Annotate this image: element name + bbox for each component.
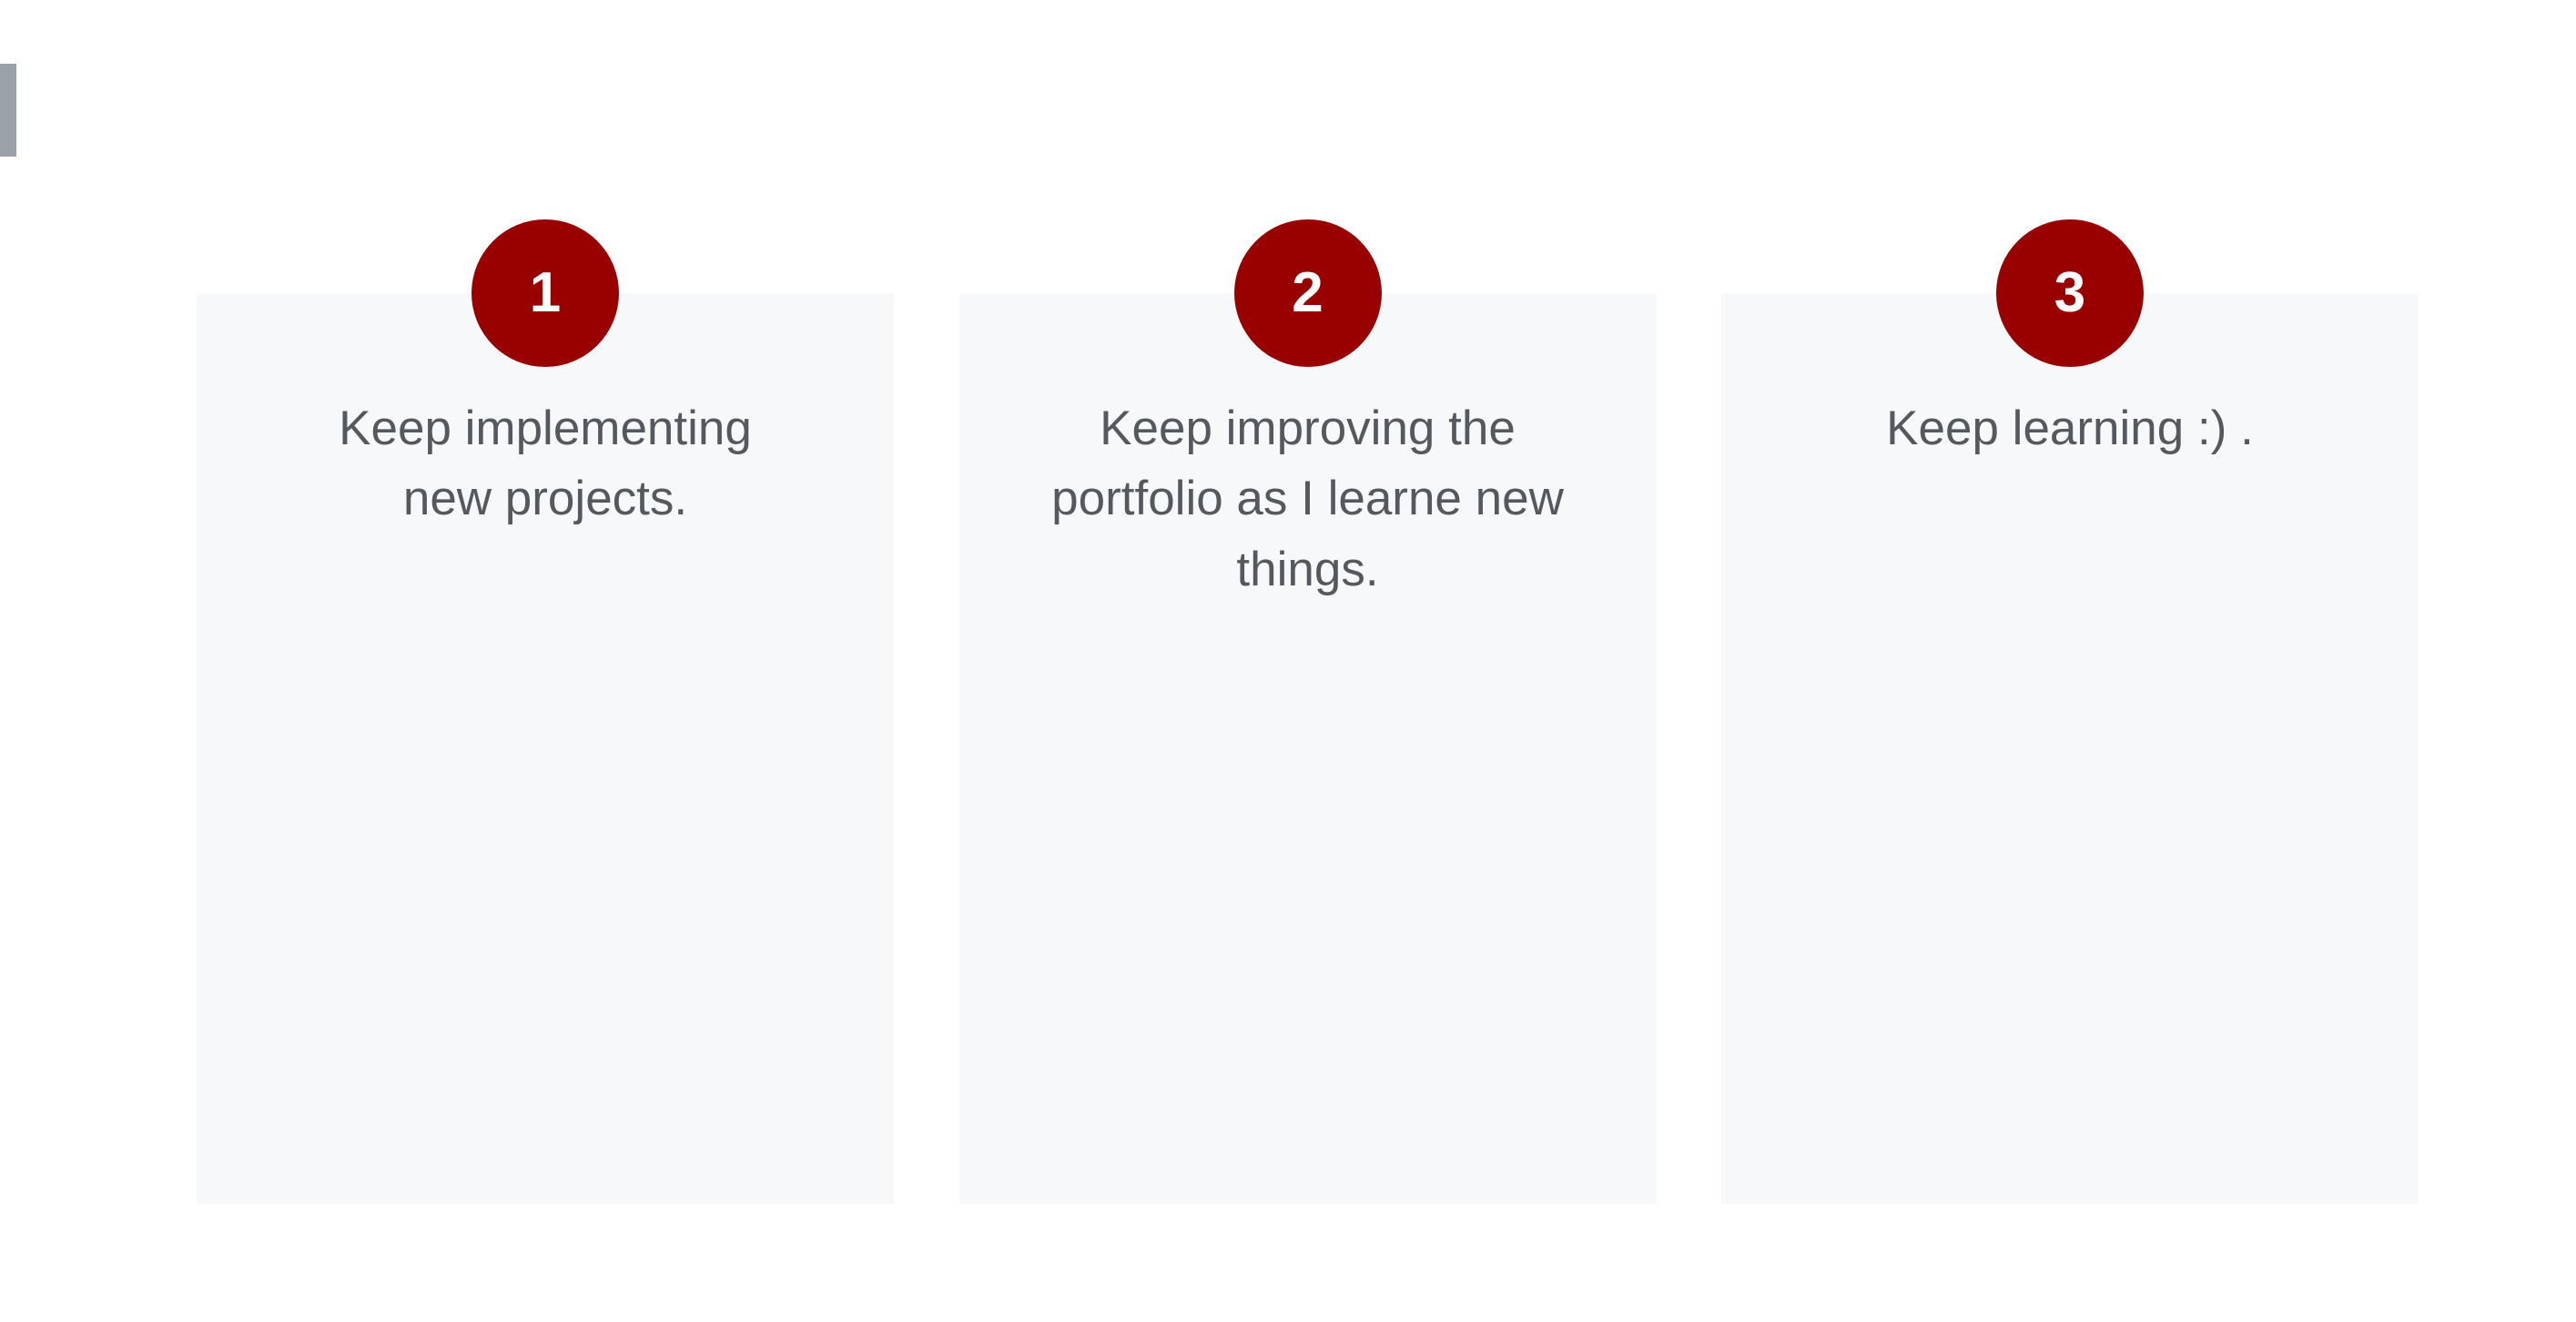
step-card-text-1: Keep implementing new projects.	[318, 393, 773, 534]
vertical-scrollbar-thumb[interactable]	[0, 64, 16, 157]
step-cards-container: 1 Keep implementing new projects. 2 Keep…	[197, 293, 2419, 1204]
step-card-3[interactable]: 3 Keep learning :) .	[1721, 293, 2419, 1204]
vertical-scrollbar-track[interactable]	[0, 0, 16, 1322]
step-card-1[interactable]: 1 Keep implementing new projects.	[197, 293, 894, 1204]
step-number-badge-3: 3	[1996, 219, 2144, 367]
step-card-text-2: Keep improving the portfolio as I learne…	[1026, 393, 1590, 605]
step-card-2[interactable]: 2 Keep improving the portfolio as I lear…	[959, 293, 1657, 1204]
step-number-badge-1: 1	[472, 219, 619, 367]
step-card-text-3: Keep learning :) .	[1772, 393, 2368, 463]
step-number-badge-2: 2	[1234, 219, 1382, 367]
